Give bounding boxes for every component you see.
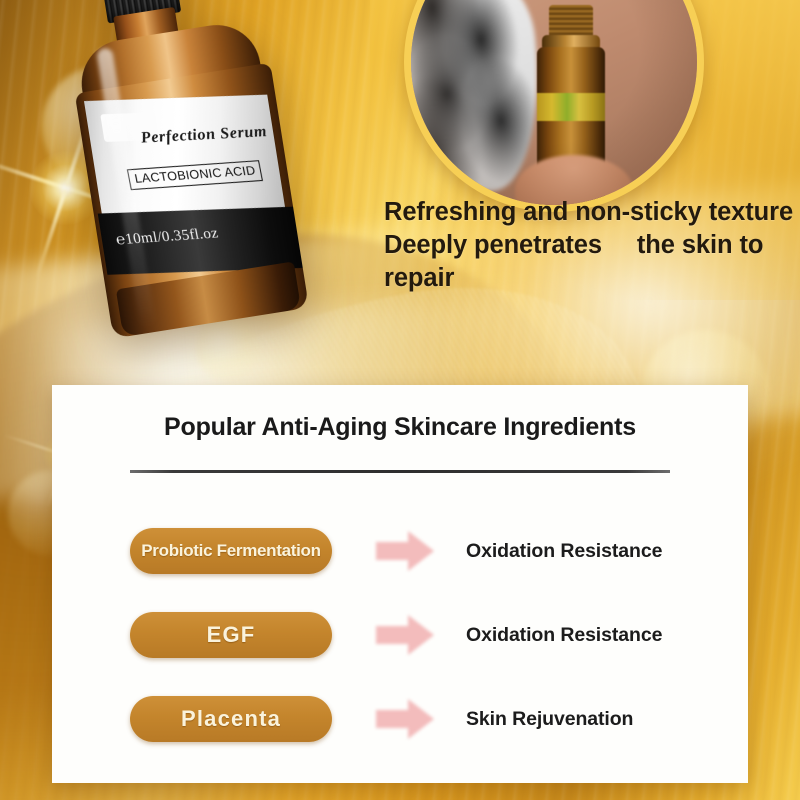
ingredient-pill-label: EGF [207,622,256,648]
ingredient-row: Placenta Skin Rejuvenation [52,677,748,761]
ingredients-card: Popular Anti-Aging Skincare Ingredients … [52,385,748,783]
ingredient-pill[interactable]: Probiotic Fermentation [130,528,332,574]
ingredient-pill[interactable]: Placenta [130,696,332,742]
arrow-right-icon [376,613,436,657]
ingredient-pill[interactable]: EGF [130,612,332,658]
benefit-label: Skin Rejuvenation [466,708,633,731]
arrow-right-icon [376,697,436,741]
ingredient-pill-label: Probiotic Fermentation [141,541,320,561]
inset-vignette [411,0,697,205]
ingredient-row: EGF Oxidation Resistance [52,593,748,677]
bottle-active-ingredient: LACTOBIONIC ACID [127,160,263,190]
card-title-divider [130,470,670,473]
ingredient-pill-label: Placenta [181,706,281,732]
circular-inset-photo [404,0,704,212]
benefit-label: Oxidation Resistance [466,624,662,647]
benefit-label: Oxidation Resistance [466,540,662,563]
headline-line-3: repair [384,262,788,295]
headline-text: Refreshing and non-sticky texture Deeply… [384,196,788,295]
arrow-right-icon [376,529,436,573]
ingredient-rows: Probiotic Fermentation Oxidation Resista… [52,509,748,761]
ingredient-row: Probiotic Fermentation Oxidation Resista… [52,509,748,593]
headline-line-2: Deeply penetrates the skin to [384,229,788,262]
headline-line-1: Refreshing and non-sticky texture [384,196,788,229]
product-banner: Perfection Serum LACTOBIONIC ACID ℮10ml/… [0,0,800,800]
card-title: Popular Anti-Aging Skincare Ingredients [52,413,748,442]
